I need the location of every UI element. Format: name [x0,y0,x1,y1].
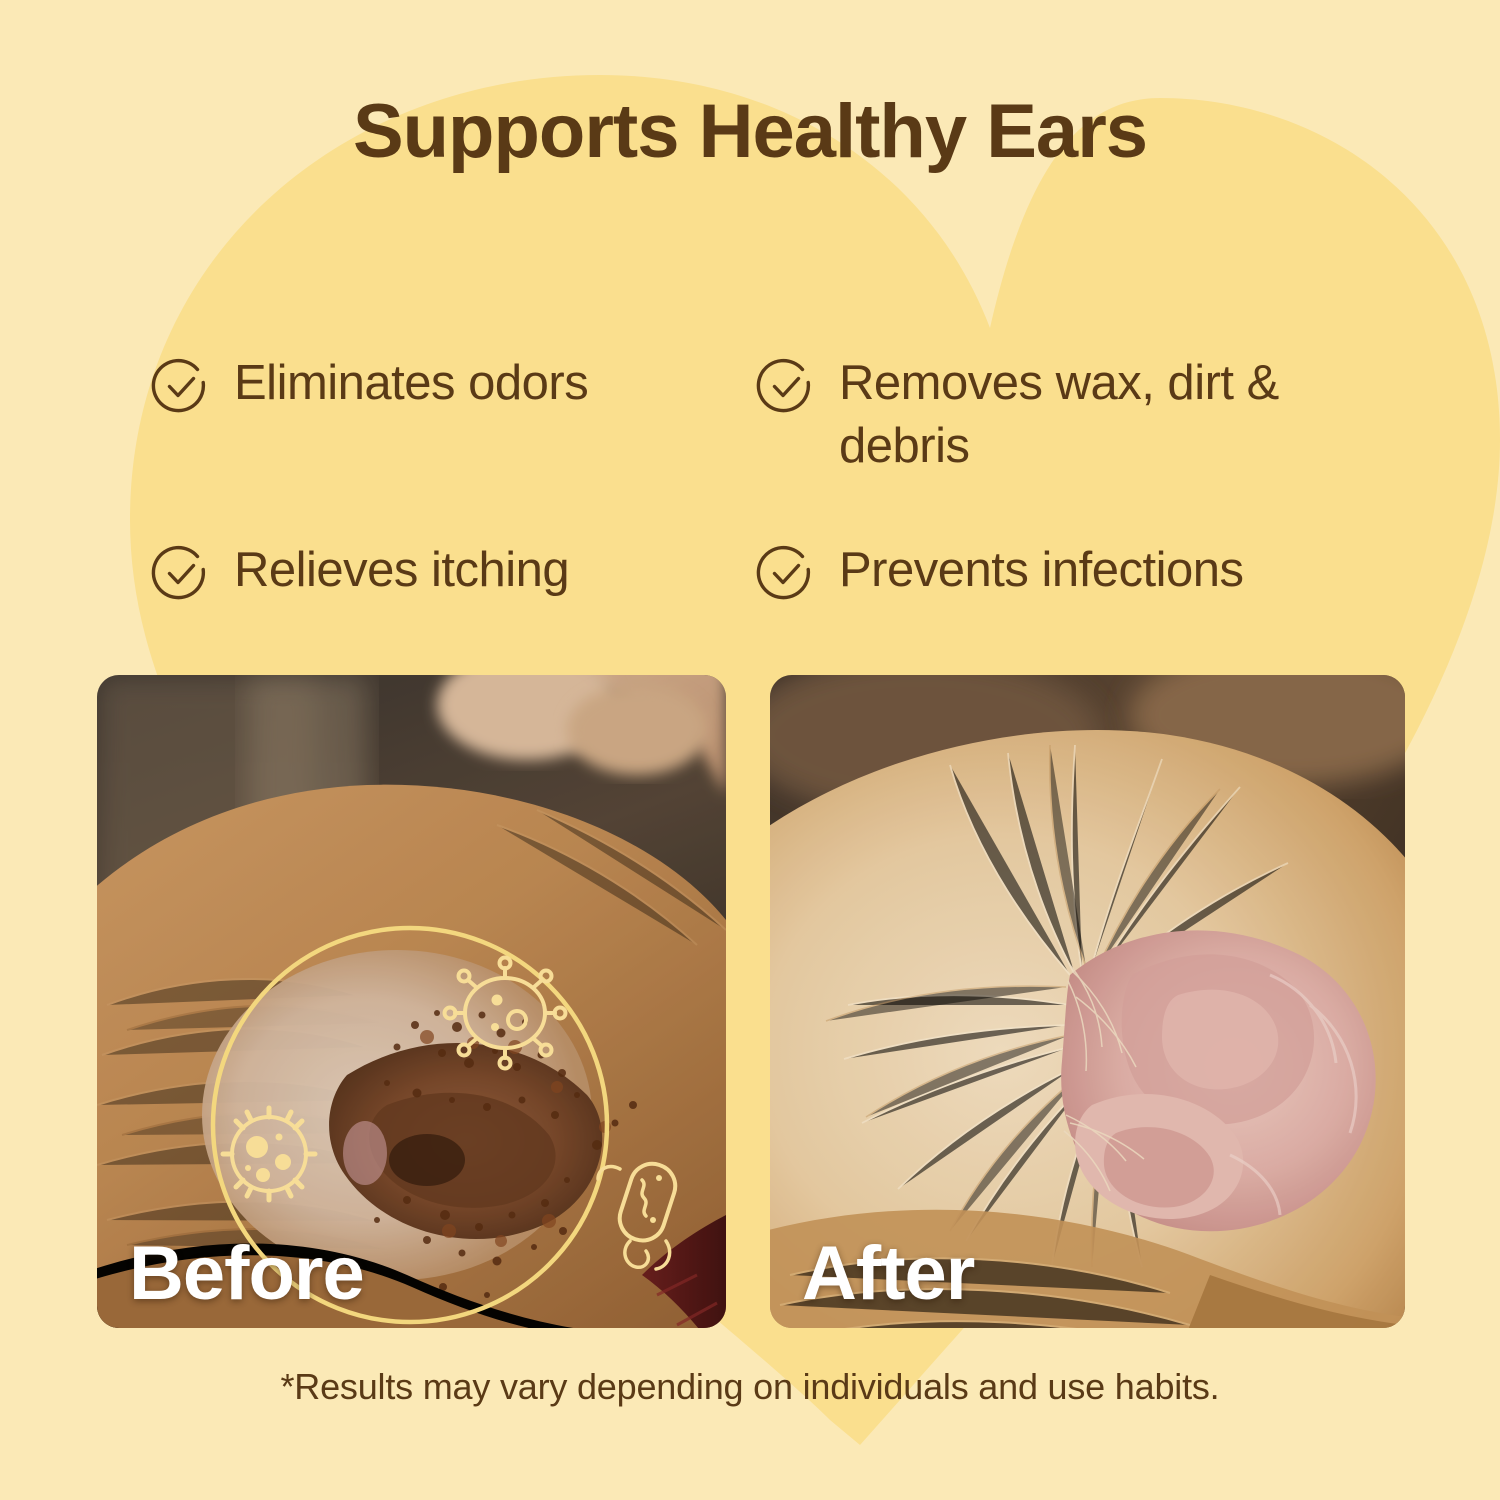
benefit-label: Relieves itching [234,539,569,602]
disclaimer-text: *Results may vary depending on individua… [0,1366,1500,1408]
before-caption: Before [129,1236,364,1312]
after-caption: After [802,1236,974,1312]
check-circle-icon [150,542,212,604]
benefit-label: Prevents infections [839,539,1244,602]
product-infographic: Supports Healthy Ears Eliminates odors R… [0,0,1500,1500]
benefits-list: Eliminates odors Removes wax, dirt & deb… [150,352,1380,604]
after-photo-panel: After [770,675,1405,1328]
benefit-label: Removes wax, dirt & debris [839,352,1380,477]
benefit-label: Eliminates odors [234,352,588,415]
check-circle-icon [755,355,817,417]
benefit-item: Removes wax, dirt & debris [755,352,1380,477]
before-photo-panel: Before [97,675,726,1328]
benefit-item: Relieves itching [150,539,755,604]
check-circle-icon [150,355,212,417]
page-title: Supports Healthy Ears [0,92,1500,172]
check-circle-icon [755,542,817,604]
benefit-item: Prevents infections [755,539,1380,604]
benefit-item: Eliminates odors [150,352,755,477]
